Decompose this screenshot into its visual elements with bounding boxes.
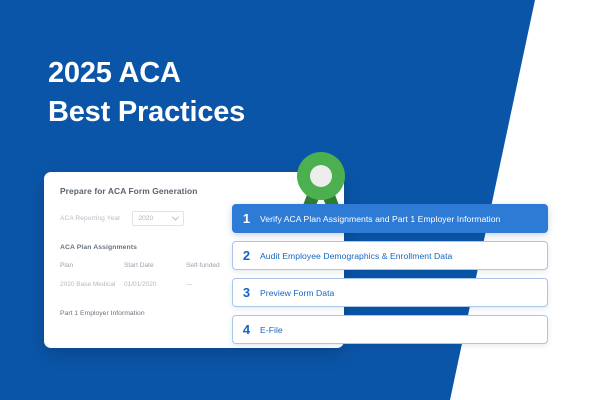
promo-banner: 2025 ACA Best Practices Prepare for ACA … xyxy=(0,0,600,400)
reporting-year-select[interactable]: 2020 xyxy=(132,211,184,226)
cell-start-date: 01/01/2020 xyxy=(124,280,186,290)
step-number: 1 xyxy=(233,212,260,225)
step-number: 3 xyxy=(233,286,260,299)
reporting-year-label: ACA Reporting Year xyxy=(60,215,120,222)
step-label: E-File xyxy=(260,325,283,335)
step-list: 1 Verify ACA Plan Assignments and Part 1… xyxy=(232,204,548,352)
reporting-year-value: 2020 xyxy=(138,215,153,222)
app-card-title: Prepare for ACA Form Generation xyxy=(60,186,328,196)
step-number: 2 xyxy=(233,249,260,262)
chevron-down-icon xyxy=(172,214,179,221)
step-label: Preview Form Data xyxy=(260,288,334,298)
step-item-2[interactable]: 2 Audit Employee Demographics & Enrollme… xyxy=(232,241,548,270)
column-header-plan: Plan xyxy=(60,262,124,280)
step-item-1[interactable]: 1 Verify ACA Plan Assignments and Part 1… xyxy=(232,204,548,233)
page-title: 2025 ACA Best Practices xyxy=(48,54,245,132)
step-label: Audit Employee Demographics & Enrollment… xyxy=(260,251,452,261)
step-item-3[interactable]: 3 Preview Form Data xyxy=(232,278,548,307)
column-header-start-date: Start Date xyxy=(124,262,186,280)
step-item-4[interactable]: 4 E-File xyxy=(232,315,548,344)
step-number: 4 xyxy=(233,323,260,336)
cell-plan: 2020 Base Medical xyxy=(60,280,124,290)
step-label: Verify ACA Plan Assignments and Part 1 E… xyxy=(260,214,500,224)
